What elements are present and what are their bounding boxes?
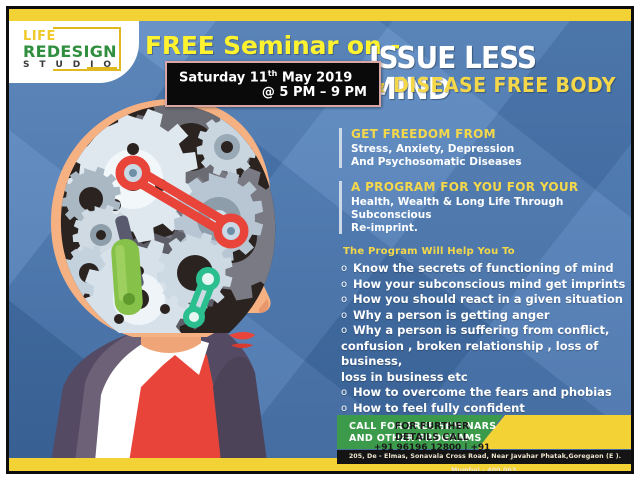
section-heading: GET FREEDOM FROM	[351, 127, 633, 141]
address-text: 205, De - Elmas, Sonavala Cross Road, Ne…	[337, 450, 633, 474]
section-body-line: And Psychosomatic Diseases	[351, 156, 633, 169]
list-item: How your subconscious mind get imprints	[341, 277, 633, 293]
list-item: Why a person is suffering from conflict,	[341, 323, 633, 339]
list-item: confusion , broken relationship , loss o…	[341, 339, 633, 370]
section-body-line: Health, Wealth & Long Life Through Subco…	[351, 196, 633, 222]
section-body: Stress, Anxiety, Depression And Psychoso…	[351, 143, 633, 169]
program-benefits-list: Know the secrets of functioning of mind …	[341, 261, 633, 416]
section-get-freedom: GET FREEDOM FROM Stress, Anxiety, Depres…	[339, 127, 633, 169]
footer-yellow-panel	[477, 415, 633, 449]
logo-line-redesign: REDESIGN	[23, 43, 117, 60]
list-item: How you should react in a given situatio…	[341, 292, 633, 308]
address-bar: 205, De - Elmas, Sonavala Cross Road, Ne…	[337, 450, 633, 464]
seminar-time: @ 5 PM – 9 PM	[262, 85, 367, 100]
top-accent-bar	[9, 9, 631, 21]
date-time-box: Saturday 11th May 2019 @ 5 PM – 9 PM	[165, 61, 381, 107]
section-body: Health, Wealth & Long Life Through Subco…	[351, 196, 633, 235]
poster-frame: LIFE REDESIGN S T U D I O FREE Seminar o…	[6, 6, 634, 474]
logo: LIFE REDESIGN S T U D I O	[23, 30, 117, 71]
footer-details-title: FOR FURTHER DETAILS CALL	[373, 421, 491, 443]
section-heading: A PROGRAM FOR YOU FOR YOUR	[351, 180, 633, 194]
list-item: How to overcome the fears and phobias	[341, 385, 633, 401]
list-item: How to feel fully confident	[341, 401, 633, 417]
free-seminar-label: FREE Seminar on -	[145, 31, 400, 60]
content-column: GET FREEDOM FROM Stress, Anxiety, Depres…	[339, 127, 633, 416]
section-body-line: Stress, Anxiety, Depression	[351, 143, 633, 156]
list-item: loss in business etc	[341, 370, 633, 386]
list-item: Why a person is getting anger	[341, 308, 633, 324]
flyer-poster: LIFE REDESIGN S T U D I O FREE Seminar o…	[0, 0, 640, 480]
section-body-line: Re-imprint.	[351, 222, 633, 235]
headline-sub: & DISEASE FREE BODY	[369, 75, 616, 96]
list-item: Know the secrets of functioning of mind	[341, 261, 633, 277]
head-with-gears-illustration	[23, 87, 335, 462]
footer-banner: CALL FOR FREE SEMINARS AND OTHER PROGRAM…	[337, 415, 633, 449]
logo-line-studio: S T U D I O	[23, 60, 117, 71]
logo-plate: LIFE REDESIGN S T U D I O	[9, 21, 139, 83]
program-heading: The Program Will Help You To	[343, 246, 633, 257]
seminar-date: Saturday 11th May 2019	[179, 69, 352, 85]
section-a-program: A PROGRAM FOR YOU FOR YOUR Health, Wealt…	[339, 180, 633, 235]
